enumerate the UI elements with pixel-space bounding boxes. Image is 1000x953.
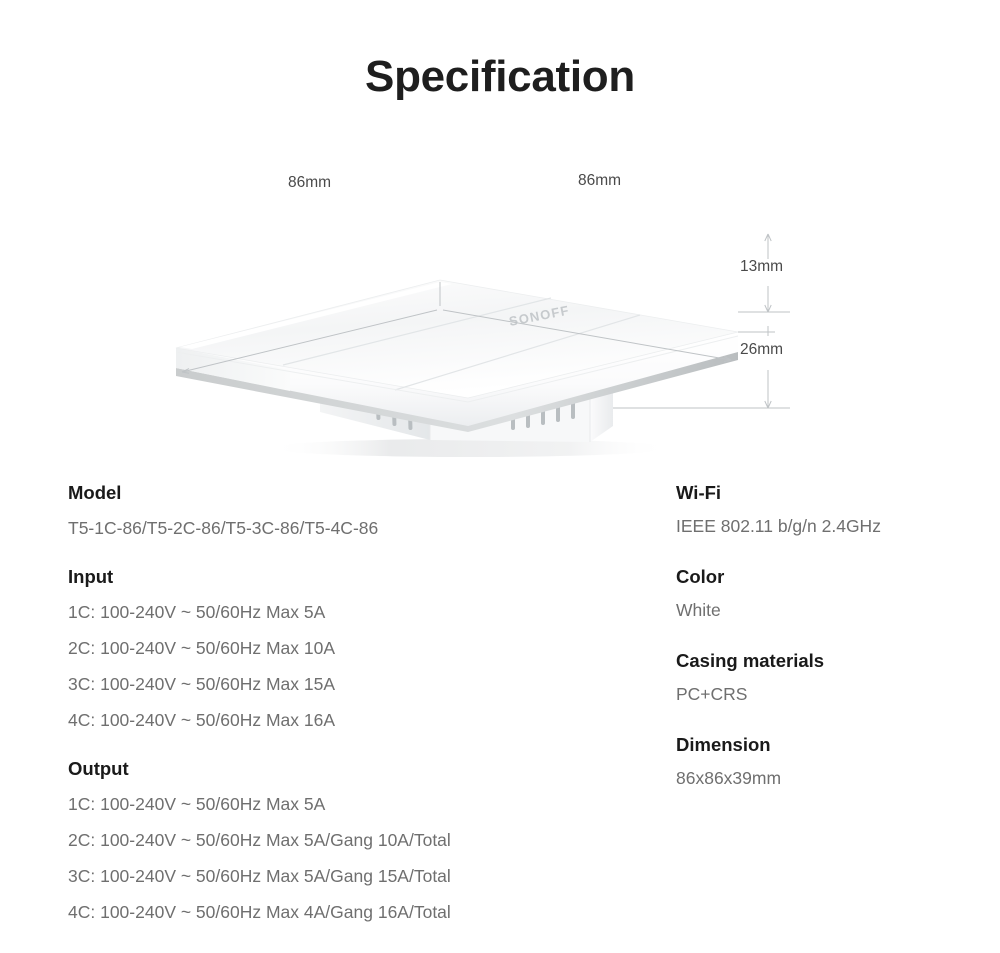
spec-heading-casing-materials: Casing materials [676, 646, 986, 676]
spec-group-wifi: Wi-Fi IEEE 802.11 b/g/n 2.4GHz [676, 478, 986, 542]
spec-heading-wifi: Wi-Fi [676, 478, 986, 508]
spec-column-right: Wi-Fi IEEE 802.11 b/g/n 2.4GHz Color Whi… [676, 478, 986, 814]
spec-group-input: Input 1C: 100-240V ~ 50/60Hz Max 5A 2C: … [68, 562, 648, 738]
switch-device-graphic: SONOFF [0, 130, 1000, 470]
spec-group-dimension: Dimension 86x86x39mm [676, 730, 986, 794]
spec-value-input-3c: 3C: 100-240V ~ 50/60Hz Max 15A [68, 666, 648, 702]
spec-value-dimension: 86x86x39mm [676, 762, 986, 794]
spec-group-color: Color White [676, 562, 986, 626]
spec-heading-input: Input [68, 562, 648, 592]
spec-value-input-1c: 1C: 100-240V ~ 50/60Hz Max 5A [68, 594, 648, 630]
spec-column-left: Model T5-1C-86/T5-2C-86/T5-3C-86/T5-4C-8… [68, 478, 648, 930]
page-title: Specification [0, 52, 1000, 102]
spec-value-input-4c: 4C: 100-240V ~ 50/60Hz Max 16A [68, 702, 648, 738]
spec-value-output-2c: 2C: 100-240V ~ 50/60Hz Max 5A/Gang 10A/T… [68, 822, 648, 858]
spec-heading-dimension: Dimension [676, 730, 986, 760]
spec-value-output-3c: 3C: 100-240V ~ 50/60Hz Max 5A/Gang 15A/T… [68, 858, 648, 894]
spec-value-wifi: IEEE 802.11 b/g/n 2.4GHz [676, 510, 986, 542]
spec-heading-model: Model [68, 478, 648, 508]
spec-group-casing-materials: Casing materials PC+CRS [676, 646, 986, 710]
spec-value-output-4c: 4C: 100-240V ~ 50/60Hz Max 4A/Gang 16A/T… [68, 894, 648, 930]
spec-value-model: T5-1C-86/T5-2C-86/T5-3C-86/T5-4C-86 [68, 510, 648, 546]
product-illustration: SONOFF [0, 130, 1000, 470]
spec-value-color: White [676, 594, 986, 626]
spec-group-model: Model T5-1C-86/T5-2C-86/T5-3C-86/T5-4C-8… [68, 478, 648, 546]
spec-heading-color: Color [676, 562, 986, 592]
dimension-faceplate-height: 13mm [740, 258, 783, 276]
spec-value-input-2c: 2C: 100-240V ~ 50/60Hz Max 10A [68, 630, 648, 666]
dimension-width-left: 86mm [288, 174, 331, 192]
spec-value-casing-materials: PC+CRS [676, 678, 986, 710]
dimension-backbox-depth: 26mm [740, 341, 783, 359]
specification-page: Specification [0, 0, 1000, 953]
spec-group-output: Output 1C: 100-240V ~ 50/60Hz Max 5A 2C:… [68, 754, 648, 930]
drop-shadow [270, 439, 670, 457]
spec-heading-output: Output [68, 754, 648, 784]
dimension-width-right: 86mm [578, 172, 621, 190]
spec-value-output-1c: 1C: 100-240V ~ 50/60Hz Max 5A [68, 786, 648, 822]
